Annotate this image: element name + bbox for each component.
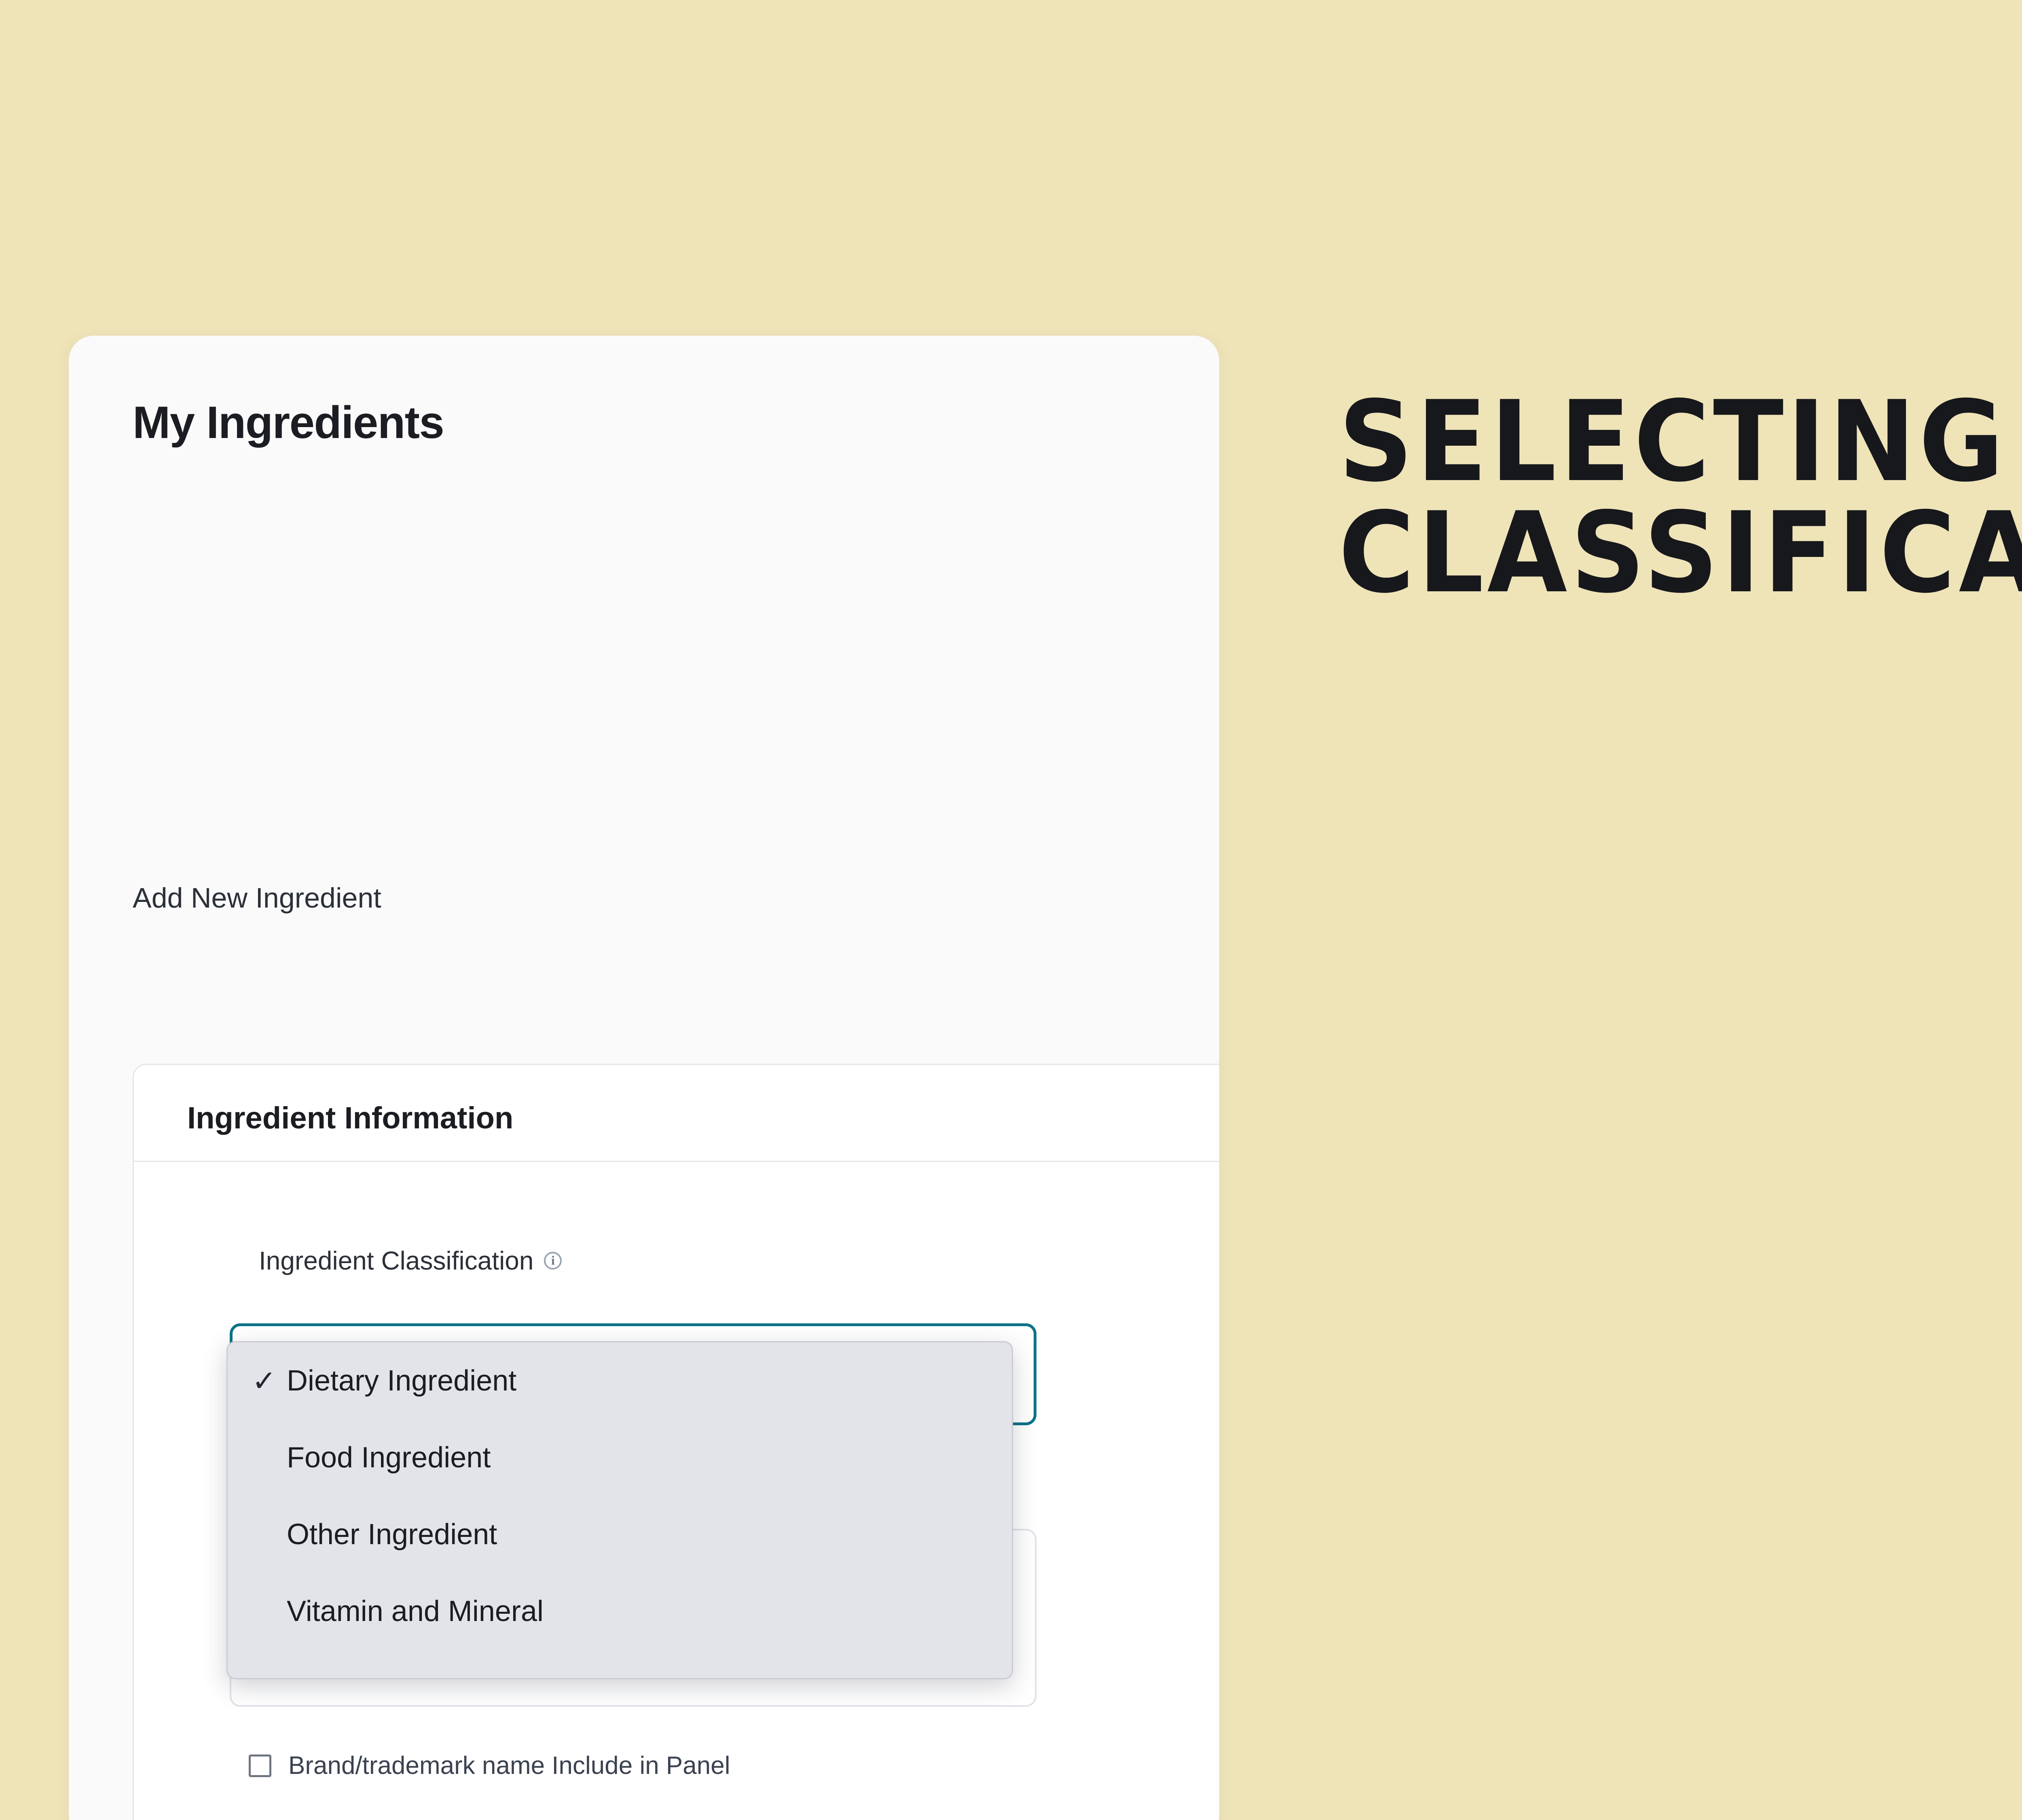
dropdown-option-food-ingredient[interactable]: Food Ingredient (228, 1419, 1012, 1496)
check-icon: ✓ (252, 1366, 287, 1395)
dropdown-option-dietary-ingredient[interactable]: ✓ Dietary Ingredient (228, 1342, 1012, 1419)
brand-trademark-checkbox-label: Brand/trademark name Include in Panel (288, 1751, 730, 1780)
dropdown-option-label: Vitamin and Mineral (287, 1595, 544, 1628)
info-icon-glyph: i (551, 1254, 555, 1267)
dropdown-option-other-ingredient[interactable]: Other Ingredient (228, 1496, 1012, 1573)
brand-trademark-checkbox-row[interactable]: Brand/trademark name Include in Panel (249, 1751, 730, 1780)
app-panel: My Ingredients Add New Ingredient Ingred… (69, 336, 1219, 1820)
checkbox-icon[interactable] (249, 1754, 271, 1777)
ingredient-classification-label-row: Ingredient Classification i (259, 1246, 562, 1276)
dropdown-option-label: Food Ingredient (287, 1441, 491, 1474)
promo-headline-line-2: CLASSIFICATIONS (1339, 497, 2022, 609)
card-header: Ingredient Information (134, 1065, 1219, 1162)
dropdown-option-label: Other Ingredient (287, 1518, 497, 1551)
add-new-ingredient-subtitle: Add New Ingredient (133, 882, 381, 914)
promo-headline-line-1: SELECTING INGREDIENT (1339, 377, 2022, 506)
page-title: My Ingredients (133, 396, 444, 449)
dropdown-option-vitamin-and-mineral[interactable]: Vitamin and Mineral (228, 1573, 1012, 1650)
card-header-title: Ingredient Information (187, 1100, 513, 1136)
ingredient-classification-dropdown[interactable]: ✓ Dietary Ingredient Food Ingredient Oth… (226, 1341, 1013, 1679)
promo-headline: SELECTING INGREDIENT CLASSIFICATIONS (1339, 386, 2022, 609)
info-icon[interactable]: i (544, 1252, 562, 1270)
screenshot-canvas: My Ingredients Add New Ingredient Ingred… (0, 0, 2022, 1820)
dropdown-option-label: Dietary Ingredient (287, 1364, 516, 1397)
ingredient-classification-label: Ingredient Classification (259, 1246, 533, 1276)
